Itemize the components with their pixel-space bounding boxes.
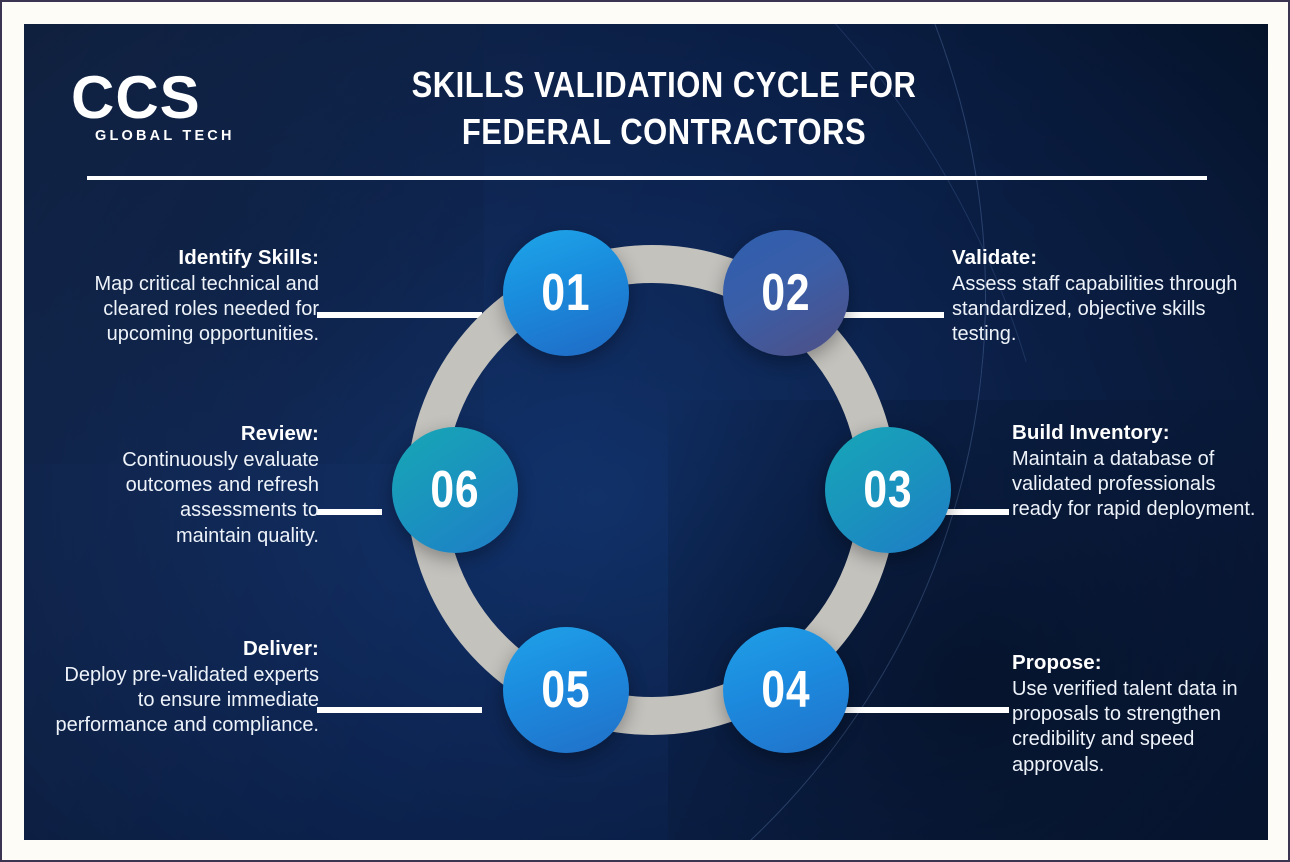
step-block-propose: Propose: Use verified talent data in pro…	[1012, 651, 1260, 778]
step-block-validate: Validate: Assess staff capabilities thro…	[952, 246, 1252, 348]
step-heading: Build Inventory:	[1012, 421, 1260, 445]
cycle-node-label: 02	[761, 263, 810, 323]
page-mat: CCS GLOBAL TECH Skills Validation Cycle …	[2, 2, 1288, 860]
title-divider	[87, 176, 1207, 180]
logo-wordmark: CCS	[71, 70, 271, 125]
step-body: Use verified talent data in proposals to…	[1012, 677, 1260, 778]
cycle-node-02[interactable]: 02	[723, 230, 849, 356]
cycle-node-01[interactable]: 01	[503, 230, 629, 356]
step-block-review: Review: Continuously evaluate outcomes a…	[119, 422, 319, 549]
cycle-node-05[interactable]: 05	[503, 627, 629, 753]
step-body: Maintain a database of validated profess…	[1012, 447, 1260, 523]
connector-line-step-06	[317, 509, 382, 515]
cycle-node-label: 03	[863, 460, 912, 520]
step-heading: Propose:	[1012, 651, 1260, 675]
step-heading: Deliver:	[44, 637, 319, 661]
step-heading: Validate:	[952, 246, 1252, 270]
step-body: Deploy pre-validated experts to ensure i…	[44, 663, 319, 739]
step-body: Map critical technical and cleared roles…	[54, 272, 319, 348]
step-block-build-inventory: Build Inventory: Maintain a database of …	[1012, 421, 1260, 523]
page-title: Skills Validation Cycle for Federal Cont…	[372, 62, 957, 156]
cycle-node-label: 05	[541, 660, 590, 720]
cycle-node-06[interactable]: 06	[392, 427, 518, 553]
infographic-panel: CCS GLOBAL TECH Skills Validation Cycle …	[24, 24, 1268, 840]
step-block-deliver: Deliver: Deploy pre-validated experts to…	[44, 637, 319, 739]
step-heading: Review:	[119, 422, 319, 446]
step-heading: Identify Skills:	[54, 246, 319, 270]
cycle-node-04[interactable]: 04	[723, 627, 849, 753]
logo-tagline: GLOBAL TECH	[95, 128, 271, 144]
cycle-node-label: 06	[430, 460, 479, 520]
step-body: Assess staff capabilities through standa…	[952, 272, 1252, 348]
cycle-node-label: 04	[761, 660, 810, 720]
brand-logo: CCS GLOBAL TECH	[71, 70, 271, 144]
cycle-node-03[interactable]: 03	[825, 427, 951, 553]
cycle-diagram: 01 02 03 04 05 06	[407, 245, 897, 735]
step-body: Continuously evaluate outcomes and refre…	[119, 448, 319, 549]
step-block-identify-skills: Identify Skills: Map critical technical …	[54, 246, 319, 348]
cycle-node-label: 01	[541, 263, 590, 323]
